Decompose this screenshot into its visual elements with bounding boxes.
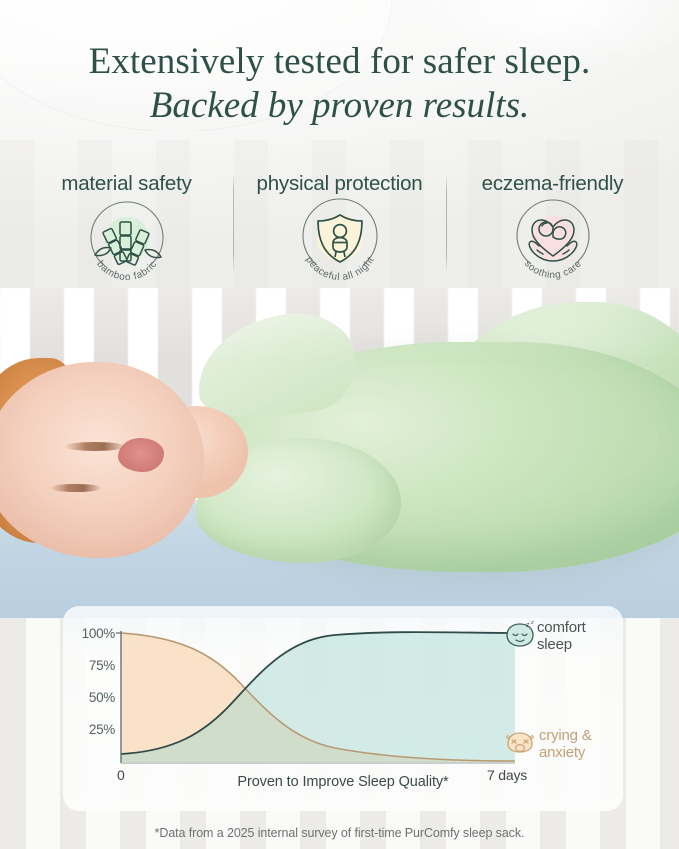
badge-eczema-friendly[interactable]: eczema-friendly xyxy=(447,172,659,284)
y-tick-label-100: 100% xyxy=(71,626,115,641)
y-tick-label-75: 75% xyxy=(71,658,115,673)
badge-caption: soothing care xyxy=(521,258,583,281)
y-tick-label-50: 50% xyxy=(71,690,115,705)
shield-baby-icon: peaceful all night xyxy=(288,198,392,284)
svg-text:z: z xyxy=(526,622,530,629)
badge-label: physical protection xyxy=(234,172,446,196)
legend-comfort-sleep: comfort sleep xyxy=(537,620,623,654)
headline-line-2: Backed by proven results. xyxy=(0,84,679,128)
baby-eyebrow xyxy=(50,484,102,492)
feature-badges: material safety xyxy=(0,172,679,292)
heart-hands-baby-icon: soothing care xyxy=(501,198,605,284)
baby-eye-closed xyxy=(64,442,126,451)
headline-line-1: Extensively tested for safer sleep. xyxy=(0,40,679,84)
crying-baby-face-icon xyxy=(503,726,537,756)
page-title: Extensively tested for safer sleep. Back… xyxy=(0,40,679,127)
badge-material-safety[interactable]: material safety xyxy=(21,172,233,284)
baby-head xyxy=(0,362,204,558)
bamboo-icon: bamboo fabric xyxy=(75,198,179,284)
badge-physical-protection[interactable]: physical protection xyxy=(234,172,446,284)
svg-text:z: z xyxy=(531,620,534,626)
legend-crying-label: crying & anxiety xyxy=(539,727,592,761)
sleep-quality-chart-card: 100% 75% 50% 25% 0 7 days z z comfort sl… xyxy=(63,606,623,811)
chart-plot-area: 100% 75% 50% 25% 0 7 days z z comfort sl… xyxy=(63,606,623,811)
legend-comfort-label: comfort sleep xyxy=(537,619,586,653)
legend-crying-anxiety: crying & anxiety xyxy=(539,728,623,762)
promo-page: Extensively tested for safer sleep. Back… xyxy=(0,0,679,849)
svg-text:soothing care: soothing care xyxy=(521,258,583,281)
footnote: *Data from a 2025 internal survey of fir… xyxy=(0,826,679,840)
badge-label: material safety xyxy=(21,172,233,196)
sleeping-baby-face-icon: z z xyxy=(503,620,537,650)
badge-label: eczema-friendly xyxy=(447,172,659,196)
chart-title: Proven to Improve Sleep Quality* xyxy=(63,774,623,790)
y-tick-label-25: 25% xyxy=(71,722,115,737)
baby-photo xyxy=(0,288,679,618)
baby-mouth xyxy=(118,438,164,472)
